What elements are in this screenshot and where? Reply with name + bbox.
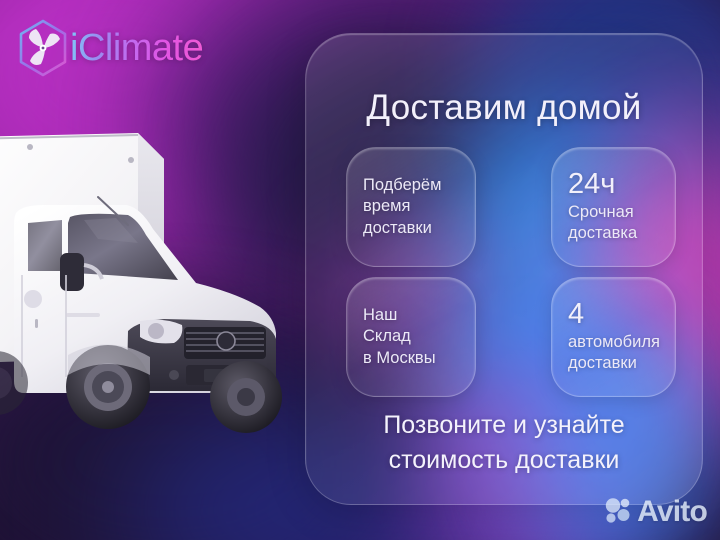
card-line: доставка [568, 223, 659, 244]
card-line: в Москвы [363, 348, 459, 369]
avito-label: Avito [637, 495, 707, 529]
card-line: время [363, 196, 459, 217]
brand-name: iClimate [70, 27, 203, 70]
call-to-action: Позвоните и узнайте стоимость доставки [306, 408, 702, 477]
cta-line: стоимость доставки [306, 443, 702, 478]
card-line: доставки [363, 218, 459, 239]
feature-card-pickup-time[interactable]: Подберём время доставки [346, 147, 476, 267]
feature-card-express-24h[interactable]: 24ч Срочная доставка [551, 147, 676, 267]
hexagon-turbine-icon [12, 17, 74, 79]
glass-info-panel: Доставим домой Подберём время доставки 2… [305, 33, 703, 505]
feature-card-four-vehicles[interactable]: 4 автомобиля доставки [551, 277, 676, 397]
delivery-truck-image [0, 125, 298, 435]
feature-card-moscow-warehouse[interactable]: Наш Склад в Москвы [346, 277, 476, 397]
card-line: Подберём [363, 175, 459, 196]
card-line: автомобиля [568, 332, 659, 353]
promo-banner: Доставим домой Подберём время доставки 2… [0, 0, 720, 540]
brand-logo[interactable]: iClimate [12, 17, 203, 79]
card-line: доставки [568, 353, 659, 374]
card-headline: 4 [568, 299, 659, 330]
page-title: Доставим домой [306, 88, 702, 128]
avito-watermark: Avito [604, 495, 707, 529]
card-line: Наш [363, 305, 459, 326]
card-line: Склад [363, 326, 459, 347]
cta-line: Позвоните и узнайте [306, 408, 702, 443]
card-line: Срочная [568, 202, 659, 223]
avito-dots-icon [604, 496, 632, 529]
card-headline: 24ч [568, 169, 659, 200]
